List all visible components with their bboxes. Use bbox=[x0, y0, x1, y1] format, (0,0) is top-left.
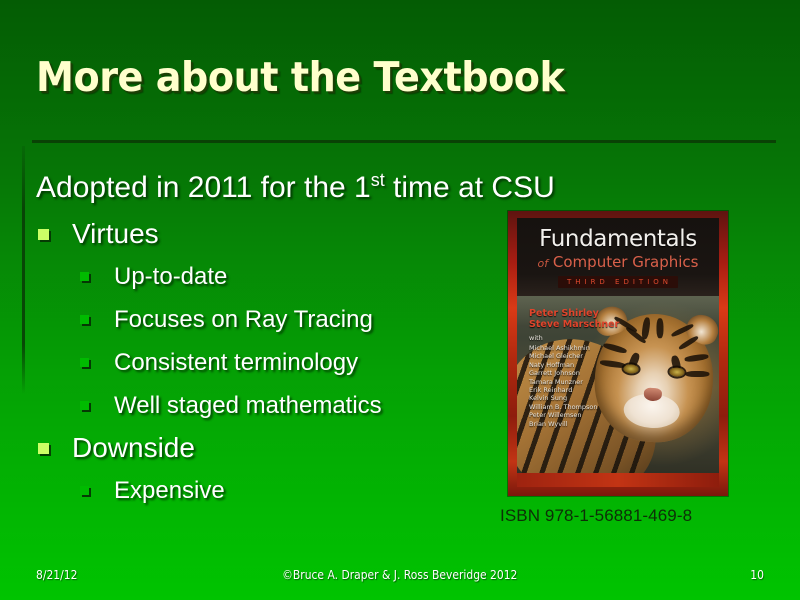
list-item: Consistent terminology bbox=[30, 341, 500, 384]
left-accent-line bbox=[22, 146, 25, 394]
list-item-label: Up-to-date bbox=[114, 263, 227, 290]
tiger-eye-right bbox=[669, 367, 685, 377]
book-contributors: Michael Ashikhmin Michael Gleicher Naty … bbox=[529, 344, 633, 428]
slide-footer: 8/21/12 ©Bruce A. Draper & J. Ross Bever… bbox=[0, 567, 800, 589]
list-item: Up-to-date bbox=[30, 255, 500, 298]
title-divider bbox=[32, 140, 776, 143]
tiger-stripe bbox=[685, 371, 709, 377]
book-subtitle: of Computer Graphics bbox=[517, 253, 719, 271]
list-item-label: Consistent terminology bbox=[114, 349, 358, 376]
list-item-label: Well staged mathematics bbox=[114, 392, 382, 419]
tiger-stripe bbox=[641, 317, 651, 340]
list-item: Downside bbox=[30, 427, 500, 469]
intro-text-after: time at CSU bbox=[385, 171, 555, 204]
slide-body: Adopted in 2011 for the 1st time at CSU … bbox=[30, 160, 500, 512]
intro-line: Adopted in 2011 for the 1st time at CSU bbox=[30, 160, 500, 208]
bullet-square-icon bbox=[80, 358, 89, 367]
tiger-stripe bbox=[684, 353, 709, 362]
book-subtitle-main: Computer Graphics bbox=[553, 253, 699, 271]
book-edition-badge: THIRD EDITION bbox=[558, 276, 678, 288]
bullet-square-icon bbox=[38, 229, 49, 240]
book-with-label: with bbox=[529, 334, 633, 342]
book-cover-authors: Peter Shirley Steve Marschner with Micha… bbox=[529, 308, 633, 428]
bullet-square-icon bbox=[80, 486, 89, 495]
tiger-stripe bbox=[656, 318, 663, 338]
isbn-caption: ISBN 978-1-56881-469-8 bbox=[500, 506, 692, 526]
bullet-square-icon bbox=[80, 315, 89, 324]
book-cover-inner: Peter Shirley Steve Marschner with Micha… bbox=[517, 218, 719, 487]
book-cover-image: Peter Shirley Steve Marschner with Micha… bbox=[508, 211, 728, 496]
list-item: Focuses on Ray Tracing bbox=[30, 298, 500, 341]
list-item: Virtues bbox=[30, 213, 500, 255]
book-subtitle-of: of bbox=[538, 257, 549, 270]
list-item: Expensive bbox=[30, 469, 500, 512]
list-item-label: Expensive bbox=[114, 477, 225, 504]
footer-page-number: 10 bbox=[750, 567, 764, 582]
book-title: Fundamentals bbox=[517, 226, 719, 252]
slide: More about the Textbook Adopted in 2011 … bbox=[0, 0, 800, 600]
intro-text-before: Adopted in 2011 for the 1 bbox=[36, 171, 371, 204]
book-cover-photo-tiger: Peter Shirley Steve Marschner with Micha… bbox=[517, 296, 719, 487]
list-item-label: Virtues bbox=[72, 218, 159, 249]
list-item-label: Focuses on Ray Tracing bbox=[114, 306, 373, 333]
page-title: More about the Textbook bbox=[36, 52, 715, 102]
book-cover-bottom-bar bbox=[517, 473, 719, 487]
list-item: Well staged mathematics bbox=[30, 384, 500, 427]
book-author-names: Peter Shirley Steve Marschner bbox=[529, 308, 633, 330]
bullet-square-icon bbox=[38, 443, 49, 454]
bullet-square-icon bbox=[80, 401, 89, 410]
list-item-label: Downside bbox=[72, 432, 195, 463]
book-cover-header: Fundamentals of Computer Graphics THIRD … bbox=[517, 218, 719, 296]
footer-copyright: ©Bruce A. Draper & J. Ross Beveridge 201… bbox=[0, 567, 800, 582]
intro-superscript: st bbox=[371, 170, 385, 190]
bullet-square-icon bbox=[80, 272, 89, 281]
